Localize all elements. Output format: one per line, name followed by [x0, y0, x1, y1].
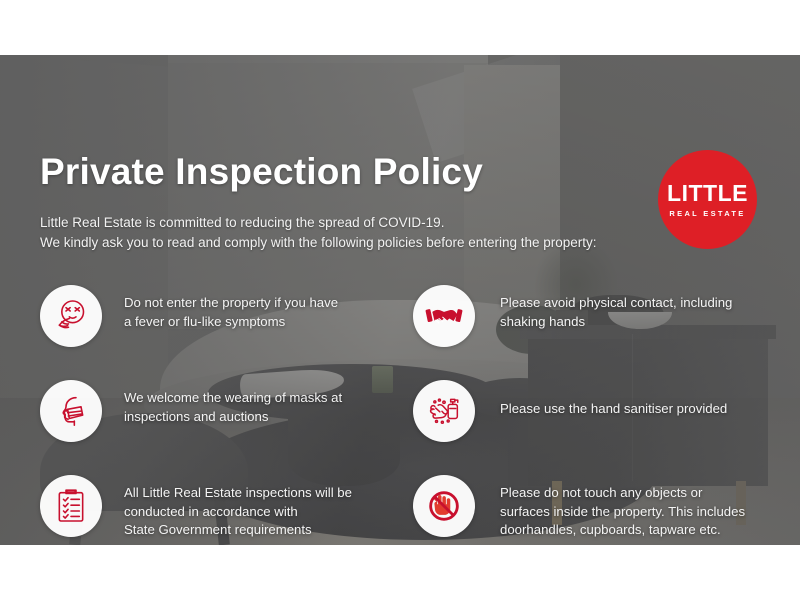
- policy-item-masks-welcome: We welcome the wearing of masks at inspe…: [40, 380, 420, 442]
- policy-text: Do not enter the property if you have a …: [102, 285, 338, 331]
- intro-line-2: We kindly ask you to read and comply wit…: [40, 233, 597, 253]
- sneezing-face-icon: [40, 285, 102, 347]
- policy-item-no-touch-surfaces: Please do not touch any objects or surfa…: [413, 475, 793, 540]
- policy-text: Please avoid physical contact, including…: [475, 285, 732, 331]
- no-touch-hand-icon: [413, 475, 475, 537]
- policy-column-right: Please avoid physical contact, including…: [413, 285, 793, 545]
- face-mask-icon: [40, 380, 102, 442]
- policy-poster: Private Inspection Policy Little Real Es…: [0, 55, 800, 545]
- policy-text: Please use the hand sanitiser provided: [475, 380, 727, 419]
- policy-line: Do not enter the property if you have: [124, 294, 338, 313]
- policy-line: shaking hands: [500, 313, 732, 332]
- policy-line: Please use the hand sanitiser provided: [500, 400, 727, 419]
- policy-column-left: Do not enter the property if you have a …: [40, 285, 420, 545]
- policy-item-no-handshake: Please avoid physical contact, including…: [413, 285, 793, 347]
- poster-content: Private Inspection Policy Little Real Es…: [0, 55, 800, 545]
- page-title: Private Inspection Policy: [40, 151, 483, 193]
- policy-line: All Little Real Estate inspections will …: [124, 484, 352, 503]
- handshake-icon: [413, 285, 475, 347]
- intro-paragraph: Little Real Estate is committed to reduc…: [40, 213, 597, 253]
- policy-line: surfaces inside the property. This inclu…: [500, 503, 745, 522]
- policy-line: doorhandles, cupboards, tapware etc.: [500, 521, 745, 540]
- policy-line: inspections and auctions: [124, 408, 342, 427]
- policy-line: Please do not touch any objects or: [500, 484, 745, 503]
- policy-line: conducted in accordance with: [124, 503, 352, 522]
- intro-line-1: Little Real Estate is committed to reduc…: [40, 213, 597, 233]
- policy-item-no-entry-if-sick: Do not enter the property if you have a …: [40, 285, 420, 347]
- policy-line: State Government requirements: [124, 521, 352, 540]
- policy-item-state-government: All Little Real Estate inspections will …: [40, 475, 420, 540]
- policy-text: All Little Real Estate inspections will …: [102, 475, 352, 540]
- policy-text: Please do not touch any objects or surfa…: [475, 475, 745, 540]
- policy-text: We welcome the wearing of masks at inspe…: [102, 380, 342, 426]
- clipboard-checklist-icon: [40, 475, 102, 537]
- logo-wordmark: LITTLE: [667, 182, 748, 205]
- policy-item-hand-sanitiser: Please use the hand sanitiser provided: [413, 380, 793, 442]
- policy-line: We welcome the wearing of masks at: [124, 389, 342, 408]
- policy-line: a fever or flu-like symptoms: [124, 313, 338, 332]
- little-real-estate-logo: LITTLE REAL ESTATE: [658, 150, 757, 249]
- policy-line: Please avoid physical contact, including: [500, 294, 732, 313]
- hand-sanitiser-icon: [413, 380, 475, 442]
- logo-tagline: REAL ESTATE: [669, 209, 745, 218]
